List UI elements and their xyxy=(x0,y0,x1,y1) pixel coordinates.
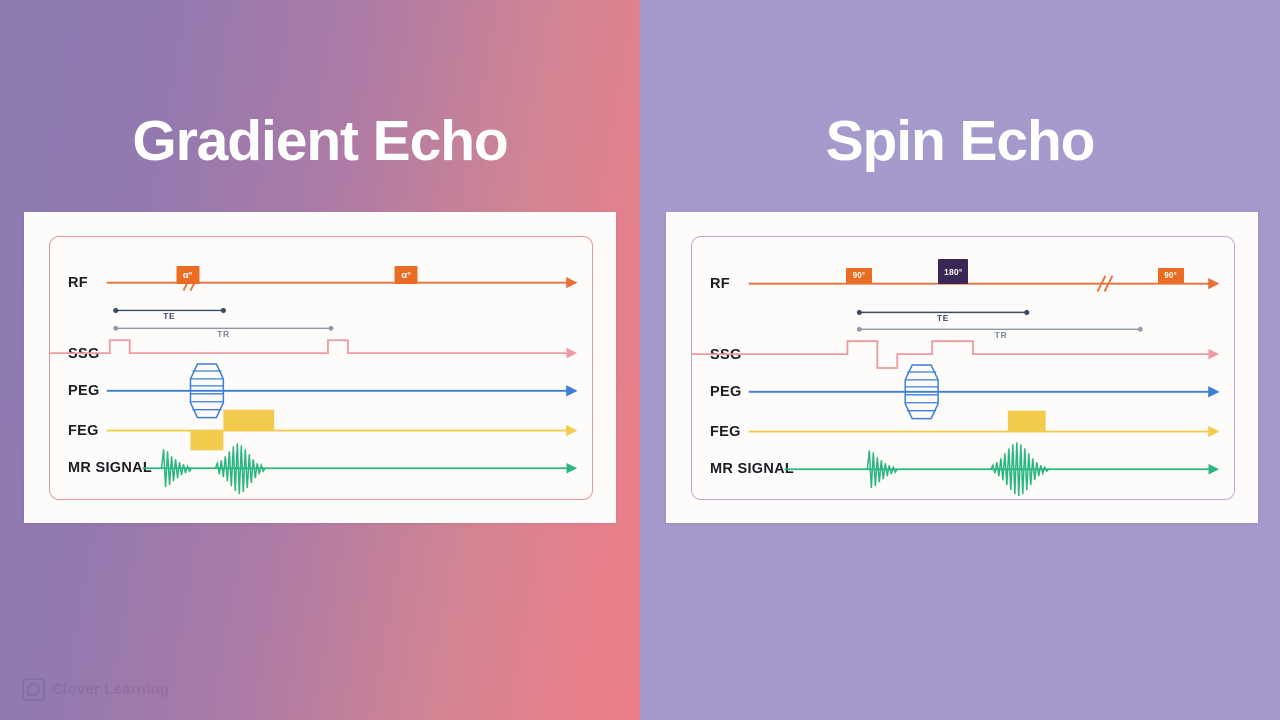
rf-pulse-alpha-2: α° xyxy=(395,266,418,284)
panel-spin-echo: Spin Echo RF SSG PEG FEG MR SIGNAL xyxy=(640,0,1280,720)
page-title-spin-echo: Spin Echo xyxy=(640,113,1280,170)
rf-trace xyxy=(749,276,1210,292)
pulse-sequence-diagram-gradient-echo: RF SSG PEG FEG MR SIGNAL xyxy=(50,237,592,499)
feg-trace xyxy=(107,410,568,451)
tr-label: TR xyxy=(995,330,1008,340)
mr-signal-trace xyxy=(785,442,1210,496)
feg-positive-lobe xyxy=(223,410,274,431)
slide-canvas: Gradient Echo RF SSG PEG FEG MR SIGNAL xyxy=(0,0,1280,720)
diagram-frame: RF SSG PEG FEG MR SIGNAL xyxy=(49,236,593,500)
te-label: TE xyxy=(163,311,175,321)
feg-negative-lobe xyxy=(190,431,223,451)
feg-positive-lobe xyxy=(1008,411,1046,432)
page-title-gradient-echo: Gradient Echo xyxy=(0,113,640,170)
ssg-trace xyxy=(692,341,1210,368)
diagram-frame: RF SSG PEG FEG MR SIGNAL xyxy=(691,236,1235,500)
echo-waveform xyxy=(215,443,265,494)
echo-waveform xyxy=(991,442,1049,496)
rf-pulse-alpha-1: α° xyxy=(176,266,199,284)
ssg-trace xyxy=(50,340,568,353)
tr-label: TR xyxy=(217,329,230,339)
peg-trace xyxy=(107,364,568,418)
diagram-card-gradient-echo: RF SSG PEG FEG MR SIGNAL xyxy=(24,212,616,523)
panel-gradient-echo: Gradient Echo RF SSG PEG FEG MR SIGNAL xyxy=(0,0,640,720)
pulse-sequence-diagram-spin-echo: RF SSG PEG FEG MR SIGNAL xyxy=(692,237,1234,499)
rf-pulse-90-2: 90° xyxy=(1158,268,1184,283)
rf-pulse-90-1: 90° xyxy=(846,268,872,283)
te-label: TE xyxy=(937,313,949,323)
sequence-traces xyxy=(50,237,592,499)
diagram-card-spin-echo: RF SSG PEG FEG MR SIGNAL xyxy=(666,212,1258,523)
feg-trace xyxy=(749,411,1210,432)
fid-waveform xyxy=(162,449,192,487)
rf-pulse-180: 180° xyxy=(938,259,968,284)
mr-signal-trace xyxy=(143,443,568,494)
fid-waveform xyxy=(867,450,897,488)
peg-trace xyxy=(749,365,1210,419)
